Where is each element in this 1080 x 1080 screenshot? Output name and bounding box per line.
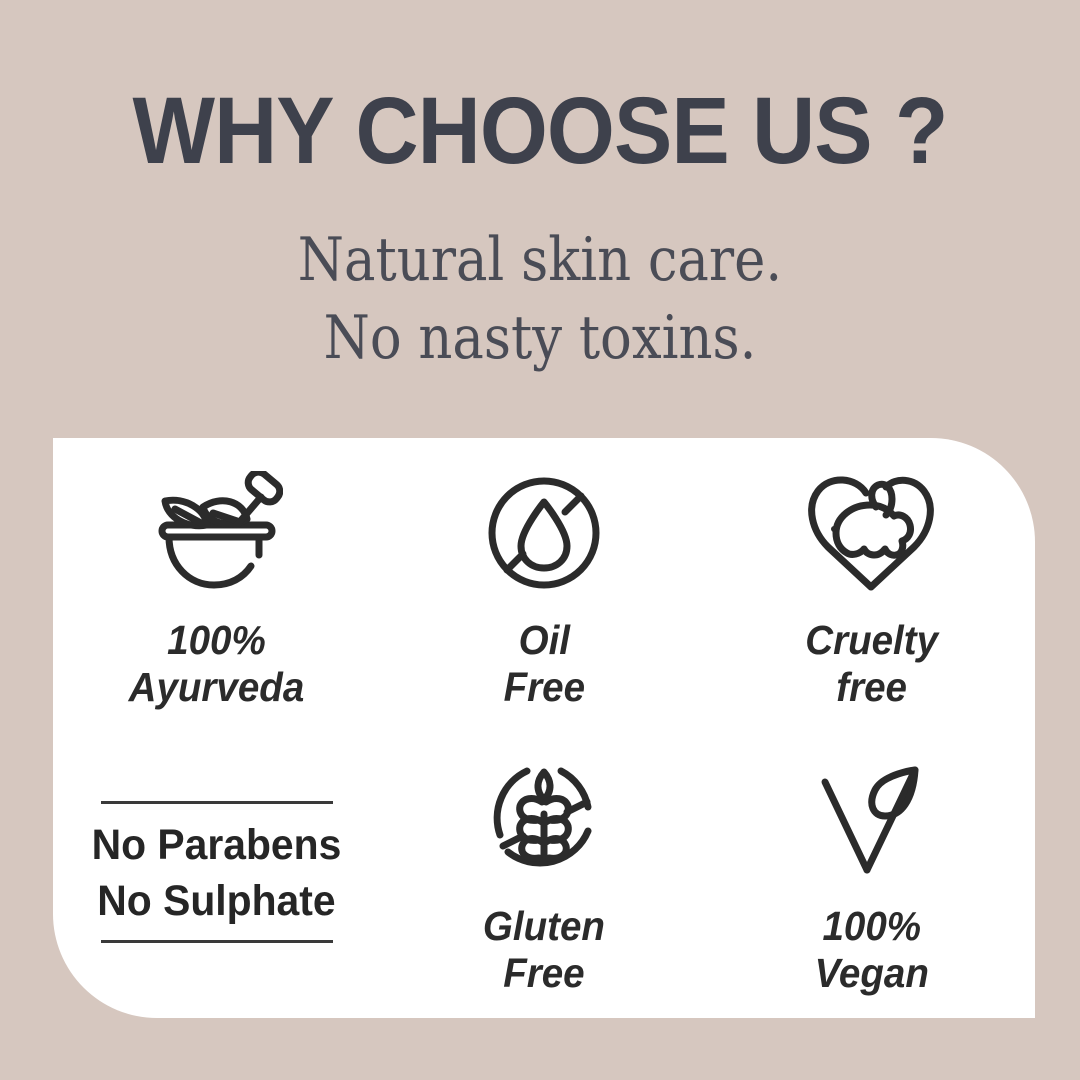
feature-label-line-1: 100% [129, 617, 305, 664]
subtitle-line-2: No nasty toxins. [65, 299, 1015, 377]
feature-label-line-2: Free [483, 950, 605, 997]
feature-label: Oil Free [503, 617, 584, 710]
feature-label-line-1: Cruelty [805, 617, 938, 664]
divider-bottom [101, 940, 333, 943]
feature-label-line-2: No Sulphate [92, 874, 342, 930]
feature-item-cruelty-free: Cruelty free [708, 438, 1035, 728]
header: WHY CHOOSE US ? Natural skin care. No na… [0, 0, 1080, 377]
subtitle-line-1: Natural skin care. [65, 221, 1015, 299]
feature-item-ayurveda: 100% Ayurveda [53, 438, 380, 728]
feature-label: Cruelty free [805, 617, 938, 710]
feature-label-line-1: Gluten [483, 903, 605, 950]
mortar-and-pestle-icon [151, 469, 283, 597]
features-grid: 100% Ayurveda Oil Free [53, 438, 1035, 1018]
feature-label: 100% Ayurveda [129, 617, 305, 710]
feature-item-vegan: 100% Vegan [708, 728, 1035, 1018]
features-card: 100% Ayurveda Oil Free [53, 438, 1035, 1018]
cruelty-free-rabbit-heart-icon [804, 469, 938, 597]
no-oil-droplet-icon [483, 469, 605, 597]
feature-label: No Parabens No Sulphate [92, 804, 342, 940]
feature-item-no-parabens-sulphate: No Parabens No Sulphate [53, 728, 380, 1018]
feature-label: Gluten Free [483, 903, 605, 996]
feature-label: 100% Vegan [814, 903, 928, 996]
feature-label-line-2: Free [503, 664, 584, 711]
feature-item-gluten-free: Gluten Free [380, 728, 707, 1018]
no-gluten-wheat-icon [483, 755, 605, 883]
vegan-leaf-v-icon [811, 755, 931, 883]
feature-label-line-1: 100% [814, 903, 928, 950]
page-title: WHY CHOOSE US ? [43, 84, 1037, 179]
feature-label-line-1: No Parabens [92, 818, 342, 874]
page-subtitle: Natural skin care. No nasty toxins. [65, 221, 1015, 377]
feature-label-line-2: Ayurveda [129, 664, 305, 711]
feature-label-line-1: Oil [503, 617, 584, 664]
feature-item-oil-free: Oil Free [380, 438, 707, 728]
feature-label-line-2: free [805, 664, 938, 711]
feature-label-line-2: Vegan [814, 950, 928, 997]
